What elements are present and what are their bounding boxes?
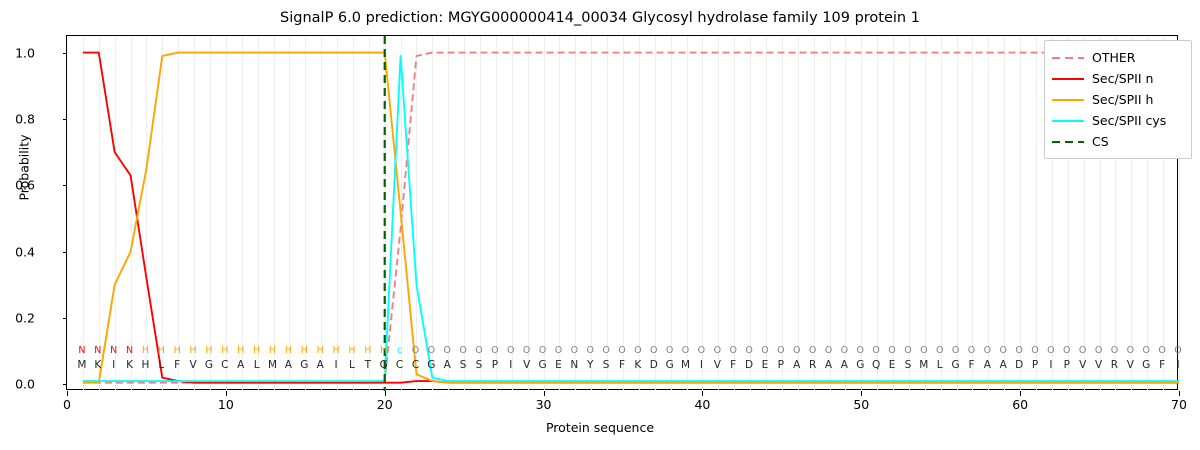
residue-letter: L	[249, 359, 265, 372]
residue-letter: I	[693, 359, 709, 372]
residue-column: HL	[249, 345, 265, 372]
residue-letter: V	[519, 359, 535, 372]
y-tick-label: 0.2	[0, 311, 35, 326]
series-line-sec-spii-h	[83, 53, 1179, 383]
residue-letter: I	[1170, 359, 1186, 372]
residue-letter: Y	[582, 359, 598, 372]
residue-region-label: O	[725, 345, 741, 356]
residue-column: OS	[900, 345, 916, 372]
residue-column: OA	[439, 345, 455, 372]
residue-column: OA	[821, 345, 837, 372]
residue-column: OD	[741, 345, 757, 372]
residue-letter: T	[360, 359, 376, 372]
residue-region-label: H	[249, 345, 265, 356]
residue-region-label: O	[916, 345, 932, 356]
residue-letter: R	[1106, 359, 1122, 372]
x-tick-label: 70	[1171, 397, 1187, 412]
residue-column: HG	[376, 345, 392, 372]
residue-column: OI	[1170, 345, 1186, 372]
residue-column: NK	[90, 345, 106, 372]
residue-region-label: O	[693, 345, 709, 356]
residue-letter: K	[90, 359, 106, 372]
residue-region-label: c	[392, 345, 408, 356]
residue-column: cC	[392, 345, 408, 372]
residue-column: OF	[614, 345, 630, 372]
residue-region-label: O	[948, 345, 964, 356]
residue-letter: E	[757, 359, 773, 372]
residue-letter: A	[821, 359, 837, 372]
legend-label-cs: CS	[1092, 134, 1109, 149]
residue-letter: C	[392, 359, 408, 372]
residue-column: HL	[153, 345, 169, 372]
legend-item-sec-spii-n[interactable]: Sec/SPII n	[1052, 68, 1184, 89]
residue-region-label: O	[979, 345, 995, 356]
x-tick-mark	[861, 391, 862, 396]
residue-region-label: O	[1170, 345, 1186, 356]
legend-swatch-cs-icon	[1052, 136, 1084, 148]
residue-column: HM	[265, 345, 281, 372]
residue-region-label: H	[185, 345, 201, 356]
residue-letter: I	[328, 359, 344, 372]
residue-region-label: O	[932, 345, 948, 356]
residue-column: OE	[550, 345, 566, 372]
residue-letter: N	[566, 359, 582, 372]
x-tick-label: 50	[853, 397, 869, 412]
y-tick-label: 0.6	[0, 178, 35, 193]
residue-letter: G	[1138, 359, 1154, 372]
residue-column: OM	[678, 345, 694, 372]
residue-region-label: H	[312, 345, 328, 356]
residue-region-label: O	[487, 345, 503, 356]
residue-column: OA	[995, 345, 1011, 372]
residue-letter: E	[550, 359, 566, 372]
residue-region-label: N	[122, 345, 138, 356]
residue-region-label: H	[169, 345, 185, 356]
residue-region-label: O	[598, 345, 614, 356]
legend-swatch-sec-spii-cys-icon	[1052, 115, 1084, 127]
residue-region-label: O	[1075, 345, 1091, 356]
residue-region-label: O	[836, 345, 852, 356]
residue-region-label: O	[646, 345, 662, 356]
residue-letter: A	[439, 359, 455, 372]
residue-region-label: O	[503, 345, 519, 356]
residue-letter: E	[884, 359, 900, 372]
residue-region-label: O	[1138, 345, 1154, 356]
residue-region-label: O	[678, 345, 694, 356]
residue-letter: A	[312, 359, 328, 372]
residue-region-label: H	[265, 345, 281, 356]
residue-column: OC	[407, 345, 423, 372]
residue-letter: F	[963, 359, 979, 372]
residue-region-label: O	[423, 345, 439, 356]
residue-letter: I	[503, 359, 519, 372]
residue-region-label: O	[1043, 345, 1059, 356]
residue-letter: V	[709, 359, 725, 372]
residue-region-label: O	[471, 345, 487, 356]
residue-letter: D	[646, 359, 662, 372]
residue-column: OK	[630, 345, 646, 372]
residue-column: HI	[328, 345, 344, 372]
residue-region-label: O	[566, 345, 582, 356]
residue-letter: D	[1011, 359, 1027, 372]
residue-column: OS	[455, 345, 471, 372]
x-tick-mark	[544, 391, 545, 396]
residue-letter: G	[852, 359, 868, 372]
residue-letter: F	[169, 359, 185, 372]
residue-column: OQ	[868, 345, 884, 372]
residue-column: OY	[582, 345, 598, 372]
residue-region-label: O	[614, 345, 630, 356]
legend-label-sec-spii-h: Sec/SPII h	[1092, 92, 1153, 107]
residue-column: OS	[598, 345, 614, 372]
residue-region-label: O	[550, 345, 566, 356]
residue-letter: F	[725, 359, 741, 372]
residue-letter: A	[979, 359, 995, 372]
residue-column: OF	[963, 345, 979, 372]
legend-item-sec-spii-cys[interactable]: Sec/SPII cys	[1052, 110, 1184, 131]
residue-region-label: O	[757, 345, 773, 356]
residue-letter: C	[217, 359, 233, 372]
residue-region-label: O	[963, 345, 979, 356]
x-tick-mark	[226, 391, 227, 396]
residue-column: OV	[519, 345, 535, 372]
residue-letter: F	[1154, 359, 1170, 372]
x-axis-label: Protein sequence	[0, 420, 1200, 435]
residue-letter: V	[1075, 359, 1091, 372]
residue-region-label: O	[630, 345, 646, 356]
residue-letter: R	[805, 359, 821, 372]
residue-region-label: O	[1091, 345, 1107, 356]
residue-letter: G	[662, 359, 678, 372]
residue-region-label: O	[535, 345, 551, 356]
residue-region-label: O	[1106, 345, 1122, 356]
legend-label-other: OTHER	[1092, 50, 1135, 65]
x-tick-mark	[702, 391, 703, 396]
residue-column: HT	[360, 345, 376, 372]
legend-swatch-sec-spii-n-icon	[1052, 73, 1084, 85]
residue-column: OD	[646, 345, 662, 372]
residue-region-label: O	[900, 345, 916, 356]
residue-region-label: O	[821, 345, 837, 356]
residue-column: OG	[662, 345, 678, 372]
residue-letter: S	[471, 359, 487, 372]
residue-region-label: O	[1154, 345, 1170, 356]
residue-letter: I	[1043, 359, 1059, 372]
residue-column: HA	[280, 345, 296, 372]
residue-column: HA	[312, 345, 328, 372]
residue-letter: A	[995, 359, 1011, 372]
x-tick-mark	[67, 391, 68, 396]
residue-column: OI	[503, 345, 519, 372]
residue-letter: L	[153, 359, 169, 372]
residue-region-label: O	[582, 345, 598, 356]
residue-region-label: O	[709, 345, 725, 356]
residue-column: OF	[1154, 345, 1170, 372]
residue-column: OP	[1059, 345, 1075, 372]
residue-region-label: H	[280, 345, 296, 356]
residue-column: OD	[1011, 345, 1027, 372]
residue-column: OV	[709, 345, 725, 372]
residue-letter: C	[407, 359, 423, 372]
residue-letter: G	[376, 359, 392, 372]
residue-column: OA	[836, 345, 852, 372]
residue-letter: L	[932, 359, 948, 372]
residue-region-label: O	[407, 345, 423, 356]
residue-region-label: H	[328, 345, 344, 356]
legend-label-sec-spii-n: Sec/SPII n	[1092, 71, 1153, 86]
series-line-sec-spii-cys	[83, 56, 1179, 381]
residue-letter: S	[598, 359, 614, 372]
legend-item-cs[interactable]: CS	[1052, 131, 1184, 152]
residue-letter: A	[789, 359, 805, 372]
residue-column: OL	[932, 345, 948, 372]
residue-column: OR	[805, 345, 821, 372]
residue-letter: I	[106, 359, 122, 372]
x-tick-label: 0	[63, 397, 71, 412]
residue-column: HF	[169, 345, 185, 372]
residue-letter: G	[948, 359, 964, 372]
residue-column: ON	[566, 345, 582, 372]
residue-column: OA	[789, 345, 805, 372]
residue-region-label: H	[360, 345, 376, 356]
residue-region-label: O	[1122, 345, 1138, 356]
residue-region-label: O	[662, 345, 678, 356]
y-tick-label: 1.0	[0, 45, 35, 60]
residue-region-label: O	[519, 345, 535, 356]
residue-column: OV	[1075, 345, 1091, 372]
residue-region-label: N	[74, 345, 90, 356]
x-tick-label: 20	[377, 397, 393, 412]
legend-swatch-other-icon	[1052, 52, 1084, 64]
residue-column: OG	[423, 345, 439, 372]
residue-letter: K	[122, 359, 138, 372]
residue-column: OE	[757, 345, 773, 372]
series-line-other	[83, 53, 1179, 383]
residue-column: OS	[471, 345, 487, 372]
x-tick-mark	[385, 391, 386, 396]
residue-column: OP	[773, 345, 789, 372]
residue-column: HH	[137, 345, 153, 372]
residue-letter: D	[741, 359, 757, 372]
residue-column: OA	[979, 345, 995, 372]
residue-column: OI	[1043, 345, 1059, 372]
residue-letter: G	[201, 359, 217, 372]
x-tick-mark	[1020, 391, 1021, 396]
residue-region-label: O	[1011, 345, 1027, 356]
residue-column: HG	[296, 345, 312, 372]
residue-letter: A	[280, 359, 296, 372]
chart-title: SignalP 6.0 prediction: MGYG000000414_00…	[0, 10, 1200, 26]
legend-swatch-sec-spii-h-icon	[1052, 94, 1084, 106]
residue-region-label: H	[376, 345, 392, 356]
residue-letter: K	[630, 359, 646, 372]
residue-letter: H	[137, 359, 153, 372]
residue-letter: V	[185, 359, 201, 372]
x-tick-mark	[1179, 391, 1180, 396]
residue-column: NI	[106, 345, 122, 372]
x-tick-label: 60	[1012, 397, 1028, 412]
residue-region-label: H	[344, 345, 360, 356]
residue-column: OV	[1091, 345, 1107, 372]
residue-column: OG	[852, 345, 868, 372]
residue-letter: P	[773, 359, 789, 372]
residue-letter: P	[487, 359, 503, 372]
residue-region-label: O	[439, 345, 455, 356]
residue-letter: S	[900, 359, 916, 372]
residue-region-label: O	[884, 345, 900, 356]
residue-column: OM	[916, 345, 932, 372]
residue-letter: M	[678, 359, 694, 372]
residue-region-label: O	[852, 345, 868, 356]
series-line-sec-spii-n	[83, 53, 1179, 383]
legend: OTHER Sec/SPII n Sec/SPII h Sec/SPII cys…	[1044, 40, 1192, 159]
legend-label-sec-spii-cys: Sec/SPII cys	[1092, 113, 1166, 128]
residue-column: OE	[884, 345, 900, 372]
residue-region-label: H	[137, 345, 153, 356]
y-tick-label: 0.0	[0, 377, 35, 392]
residue-region-label: O	[789, 345, 805, 356]
residue-column: OP	[487, 345, 503, 372]
residue-column: OV	[1122, 345, 1138, 372]
residue-region-label: O	[741, 345, 757, 356]
residue-letter: P	[1059, 359, 1075, 372]
residue-region-label: O	[455, 345, 471, 356]
residue-region-label: O	[1059, 345, 1075, 356]
residue-column: OP	[1027, 345, 1043, 372]
residue-region-label: H	[233, 345, 249, 356]
legend-item-sec-spii-h[interactable]: Sec/SPII h	[1052, 89, 1184, 110]
legend-item-other[interactable]: OTHER	[1052, 47, 1184, 68]
series-curves	[67, 36, 1179, 391]
residue-letter: M	[265, 359, 281, 372]
residue-region-label: O	[995, 345, 1011, 356]
residue-column: OG	[1138, 345, 1154, 372]
residue-column: OF	[725, 345, 741, 372]
residue-letter: F	[614, 359, 630, 372]
residue-letter: S	[455, 359, 471, 372]
residue-letter: M	[74, 359, 90, 372]
x-tick-label: 40	[694, 397, 710, 412]
residue-letter: Q	[868, 359, 884, 372]
residue-region-label: H	[153, 345, 169, 356]
signalp-prediction-figure: SignalP 6.0 prediction: MGYG000000414_00…	[0, 0, 1200, 450]
y-tick-label: 0.4	[0, 244, 35, 259]
residue-column: HG	[201, 345, 217, 372]
residue-column: OG	[948, 345, 964, 372]
residue-letter: G	[535, 359, 551, 372]
residue-letter: M	[916, 359, 932, 372]
residue-region-label: N	[90, 345, 106, 356]
residue-letter: V	[1122, 359, 1138, 372]
residue-region-label: H	[201, 345, 217, 356]
residue-column: OI	[693, 345, 709, 372]
protein-sequence-track: NMNKNINKHHHLHFHVHGHCHAHLHMHAHGHAHIHLHTHG…	[66, 345, 1178, 390]
residue-column: HA	[233, 345, 249, 372]
residue-region-label: O	[1027, 345, 1043, 356]
residue-letter: G	[296, 359, 312, 372]
residue-region-label: H	[217, 345, 233, 356]
residue-letter: G	[423, 359, 439, 372]
residue-column: HL	[344, 345, 360, 372]
residue-letter: P	[1027, 359, 1043, 372]
x-tick-label: 30	[536, 397, 552, 412]
residue-column: NM	[74, 345, 90, 372]
residue-column: HV	[185, 345, 201, 372]
residue-column: NK	[122, 345, 138, 372]
residue-column: HC	[217, 345, 233, 372]
residue-letter: L	[344, 359, 360, 372]
residue-region-label: O	[805, 345, 821, 356]
residue-letter: A	[836, 359, 852, 372]
residue-letter: A	[233, 359, 249, 372]
residue-region-label: O	[868, 345, 884, 356]
x-tick-label: 10	[218, 397, 234, 412]
residue-region-label: H	[296, 345, 312, 356]
residue-letter: V	[1091, 359, 1107, 372]
residue-region-label: O	[773, 345, 789, 356]
residue-column: OG	[535, 345, 551, 372]
y-tick-label: 0.8	[0, 111, 35, 126]
residue-region-label: N	[106, 345, 122, 356]
residue-column: OR	[1106, 345, 1122, 372]
plot-area: 0.00.20.40.60.81.0 010203040506070	[66, 35, 1178, 390]
